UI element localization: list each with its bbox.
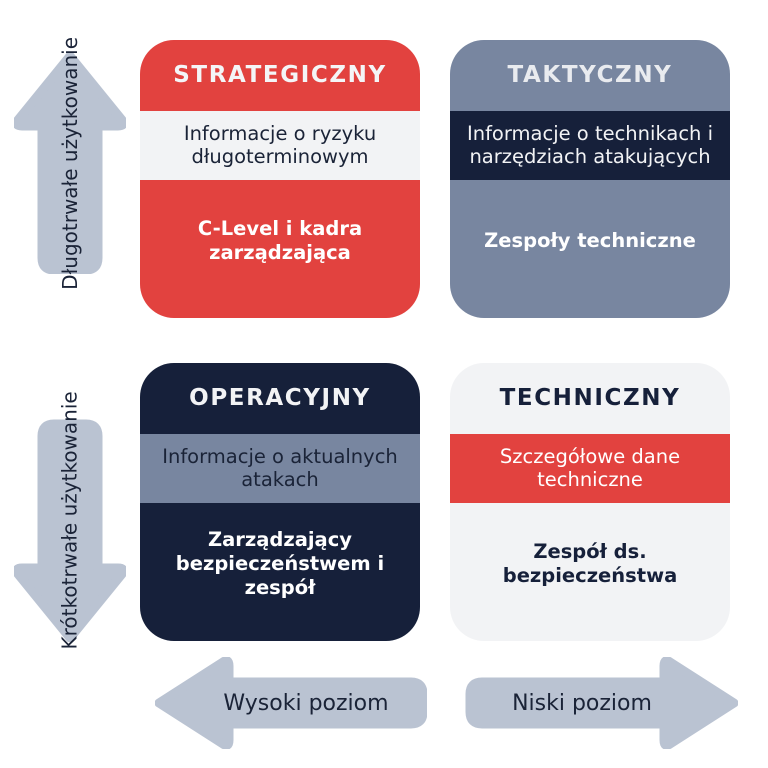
quadrant-audience-tactical: Zespoły techniczne (450, 180, 730, 318)
quadrant-title-tactical: TAKTYCZNY (450, 40, 730, 111)
quadrant-audience-operational: Zarządzający bezpieczeństwem i zespół (140, 503, 420, 641)
quadrant-card-technical[interactable]: TECHNICZNY Szczegółowe dane techniczne Z… (450, 363, 730, 641)
quadrant-info-operational: Informacje o aktualnych atakach (140, 434, 420, 503)
quadrant-audience-technical: Zespół ds. bezpieczeństwa (450, 503, 730, 641)
quadrant-card-tactical[interactable]: TAKTYCZNY Informacje o technikach i narz… (450, 40, 730, 318)
axis-label-low-level-text: Niski poziom (512, 691, 652, 716)
quadrant-title-operational: OPERACYJNY (140, 363, 420, 434)
threat-intelligence-matrix: Długotrwałe użytkowanie Krótkotrwałe uży… (0, 0, 768, 768)
quadrant-title-strategic: STRATEGICZNY (140, 40, 420, 111)
quadrant-card-strategic[interactable]: STRATEGICZNY Informacje o ryzyku długote… (140, 40, 420, 318)
axis-label-long-term: Długotrwałe użytkowanie (14, 52, 126, 274)
axis-label-short-term-text: Krótkotrwałe użytkowanie (59, 391, 82, 649)
quadrant-title-technical: TECHNICZNY (450, 363, 730, 434)
axis-label-high-level-text: Wysoki poziom (223, 691, 388, 716)
quadrant-card-operational[interactable]: OPERACYJNY Informacje o aktualnych ataka… (140, 363, 420, 641)
quadrant-info-technical: Szczegółowe dane techniczne (450, 434, 730, 503)
axis-label-short-term: Krótkotrwałe użytkowanie (14, 398, 126, 642)
quadrant-info-strategic: Informacje o ryzyku długoterminowym (140, 111, 420, 180)
quadrant-audience-strategic: C-Level i kadra zarządzająca (140, 180, 420, 318)
axis-label-long-term-text: Długotrwałe użytkowanie (59, 37, 82, 290)
quadrant-info-tactical: Informacje o technikach i narzędziach at… (450, 111, 730, 180)
axis-label-high-level: Wysoki poziom (155, 657, 427, 749)
axis-label-low-level: Niski poziom (462, 657, 738, 749)
